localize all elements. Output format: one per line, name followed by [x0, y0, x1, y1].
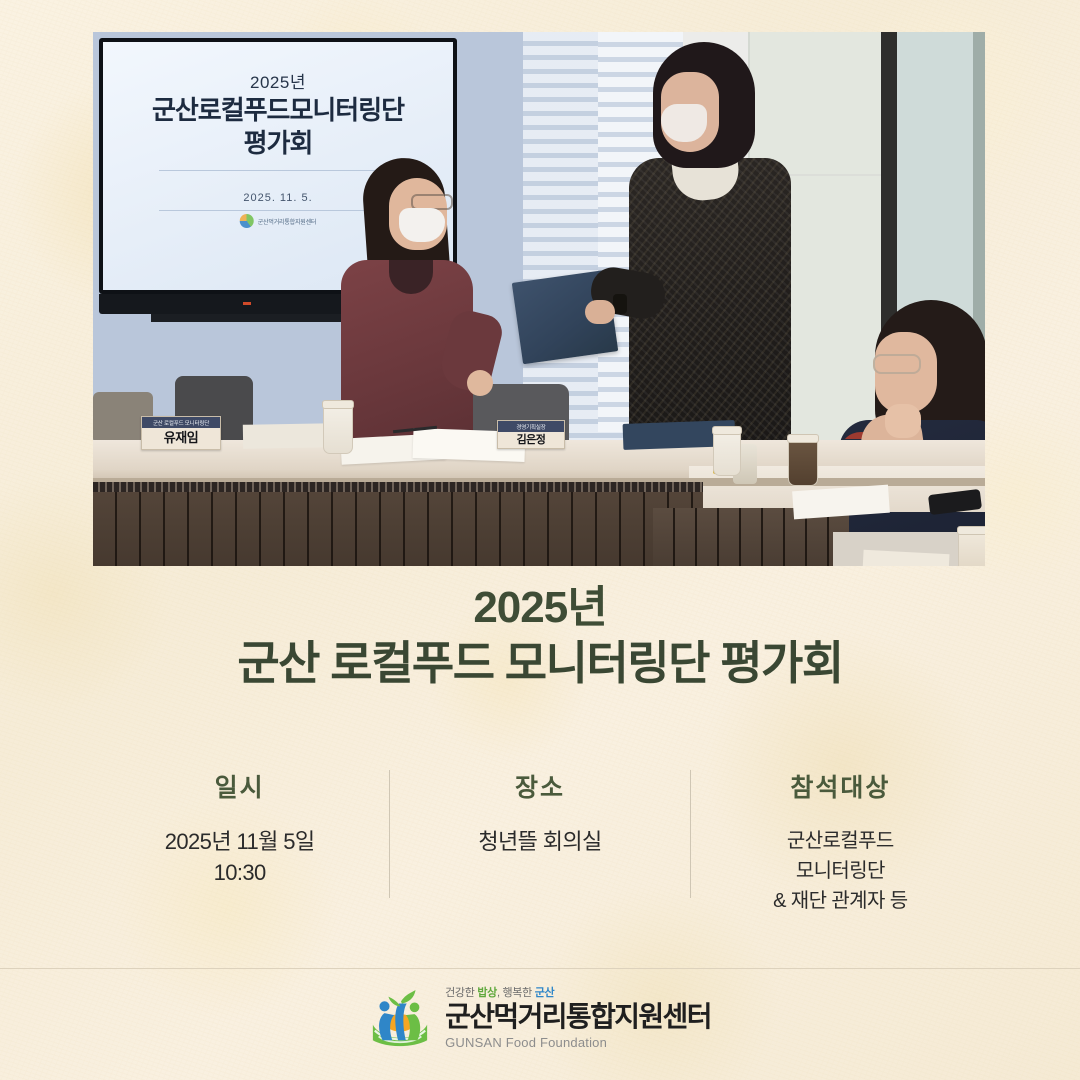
- person-official-watch-icon: [613, 294, 627, 314]
- foundation-tagline: 건강한 밥상, 행복한 군산: [445, 984, 554, 1000]
- foundation-name-ko: 군산먹거리통합지원센터: [445, 1002, 711, 1033]
- page-title: 2025년 군산 로컬푸드 모니터링단 평가회: [0, 582, 1080, 691]
- foundation-name-en: GUNSAN Food Foundation: [445, 1035, 607, 1050]
- slide-title-text: 군산로컬푸드모니터링단 평가회: [103, 94, 453, 159]
- foundation-logo-icon: [369, 986, 431, 1048]
- tagline-part-3: , 행복한: [497, 987, 535, 999]
- footer-divider: [0, 968, 1080, 969]
- person-official-mask: [661, 104, 707, 142]
- title-line-2: 군산 로컬푸드 모니터링단 평가회: [0, 636, 1080, 691]
- title-line-1: 2025년: [0, 582, 1080, 634]
- slide-logo: 군산먹거리통합지원센터: [240, 214, 317, 228]
- detail-heading-location: 장소: [396, 768, 683, 804]
- detail-line: 2025년 11월 5일: [96, 826, 383, 857]
- display-power-led-icon: [243, 302, 251, 305]
- photo-scene: 2025년 군산로컬푸드모니터링단 평가회 2025. 11. 5. 군산먹거리…: [93, 32, 985, 566]
- detail-body-location: 청년뜰 회의실: [396, 826, 683, 857]
- person-presenter-mask: [399, 208, 445, 242]
- document-stack-left: [243, 423, 333, 449]
- tagline-part-4: 군산: [535, 987, 555, 999]
- detail-heading-datetime: 일시: [96, 768, 383, 804]
- event-photo: 2025년 군산로컬푸드모니터링단 평가회 2025. 11. 5. 군산먹거리…: [93, 32, 985, 566]
- detail-heading-attendees: 참석대상: [697, 768, 984, 804]
- detail-body-datetime: 2025년 11월 5일 10:30: [96, 826, 383, 888]
- detail-line: 10:30: [96, 857, 383, 888]
- detail-line: 청년뜰 회의실: [396, 826, 683, 857]
- person-attendee-glasses-icon: [873, 354, 921, 374]
- tagline-part-1: 건강한: [445, 987, 477, 999]
- slide-logo-label: 군산먹거리통합지원센터: [258, 217, 317, 226]
- nameplate-org-label: 경영기획실장: [498, 421, 564, 432]
- table-panel-rail: [93, 482, 703, 492]
- table-panel-slats: [93, 484, 703, 566]
- slide-rule-1: [159, 170, 405, 171]
- poster-background: 2025년 군산로컬푸드모니터링단 평가회 2025. 11. 5. 군산먹거리…: [0, 0, 1080, 1080]
- glass-partition: [897, 32, 985, 332]
- person-presenter-hand: [467, 370, 493, 396]
- slide-title-main: 군산로컬푸드모니터링단: [152, 95, 404, 125]
- detail-line: & 재단 관계자 등: [697, 886, 984, 916]
- detail-column-datetime: 일시 2025년 11월 5일 10:30: [90, 768, 389, 888]
- slide-logo-icon: [240, 214, 254, 228]
- person-attendee-hand: [885, 404, 921, 438]
- detail-line: 모니터링단: [697, 856, 984, 886]
- detail-line: 군산로컬푸드: [697, 826, 984, 856]
- nameplate-name-label: 김은정: [498, 432, 564, 448]
- person-official-hand: [585, 300, 615, 324]
- tagline-part-2: 밥상: [477, 987, 497, 999]
- coffee-cup-foreground: [958, 530, 985, 566]
- nameplate-yu-jaeim: 군산 로컬푸드 모니터링단 유재임: [141, 416, 221, 450]
- foundation-wordmark: 건강한 밥상, 행복한 군산 군산먹거리통합지원센터 GUNSAN Food F…: [445, 984, 711, 1050]
- footer-branding: 건강한 밥상, 행복한 군산 군산먹거리통합지원센터 GUNSAN Food F…: [0, 984, 1080, 1050]
- event-details: 일시 2025년 11월 5일 10:30 장소 청년뜰 회의실 참석대상 군산…: [90, 768, 990, 898]
- slide-year-text: 2025년: [103, 68, 453, 93]
- detail-body-attendees: 군산로컬푸드 모니터링단 & 재단 관계자 등: [697, 826, 984, 916]
- nameplate-name-label: 유재임: [142, 428, 220, 447]
- coffee-cup-right: [788, 438, 818, 486]
- slide-title-sub: 평가회: [244, 128, 313, 158]
- nameplate-org-label: 군산 로컬푸드 모니터링단: [142, 417, 220, 428]
- detail-column-location: 장소 청년뜰 회의실: [390, 768, 689, 857]
- coffee-cup-left: [323, 404, 353, 454]
- coffee-cup-center: [713, 430, 741, 476]
- detail-column-attendees: 참석대상 군산로컬푸드 모니터링단 & 재단 관계자 등: [691, 768, 990, 916]
- nameplate-kim-eunjung: 경영기획실장 김은정: [497, 420, 565, 449]
